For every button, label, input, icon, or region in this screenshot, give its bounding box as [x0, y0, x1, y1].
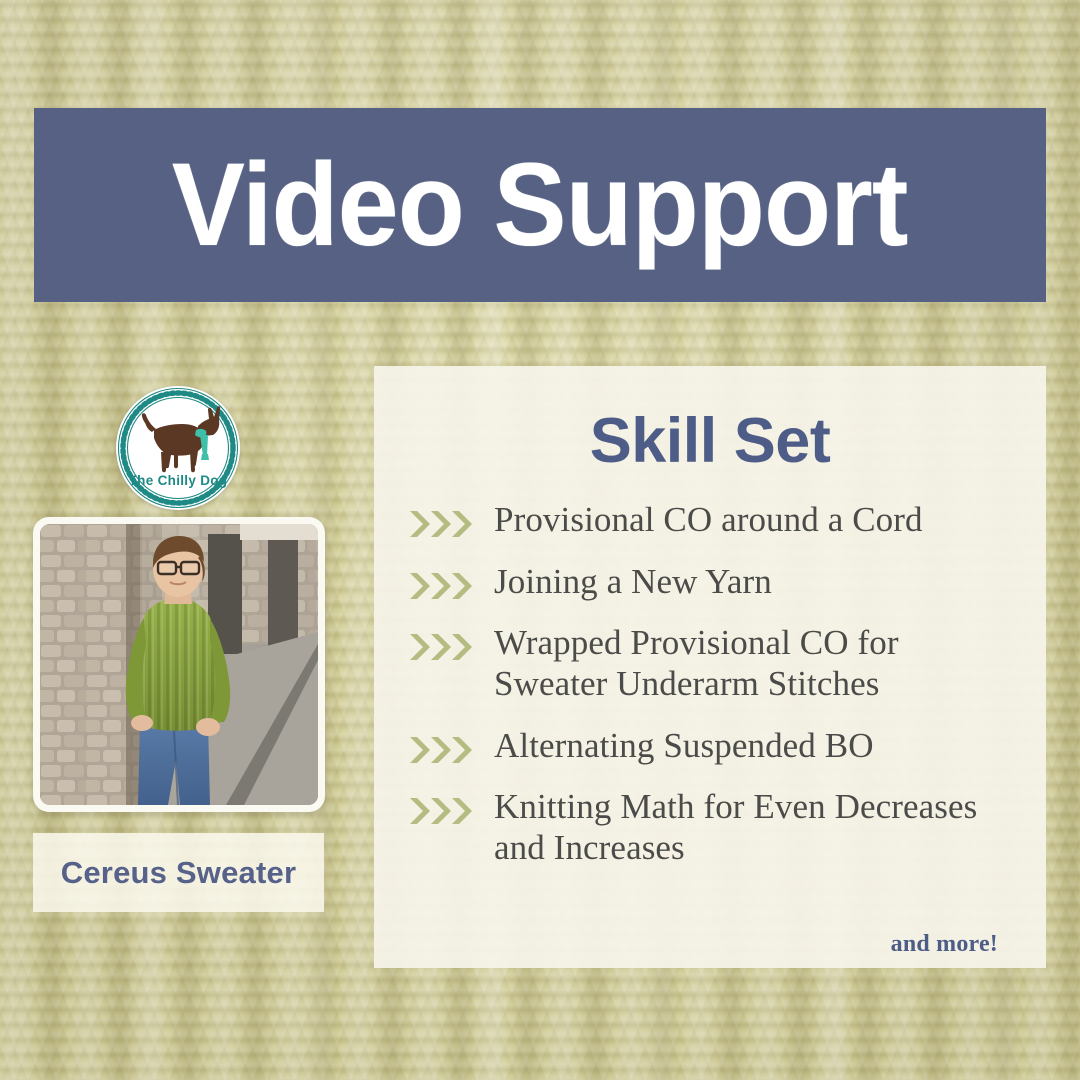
product-photo — [40, 524, 318, 805]
promo-graphic: Video Support — [0, 0, 1080, 1080]
header-banner: Video Support — [34, 108, 1046, 302]
skill-label: Alternating Suspended BO — [494, 726, 874, 767]
list-item: Knitting Math for Even Decreases and Inc… — [400, 787, 1020, 868]
product-caption: Cereus Sweater — [33, 833, 324, 912]
and-more-footnote: and more! — [891, 931, 998, 958]
triple-chevron-icon — [410, 623, 476, 662]
list-item: Wrapped Provisional CO for Sweater Under… — [400, 623, 1020, 704]
skill-label: Wrapped Provisional CO for Sweater Under… — [494, 623, 1020, 704]
list-item: Joining a New Yarn — [400, 562, 1020, 603]
skill-label: Joining a New Yarn — [494, 562, 772, 603]
product-caption-label: Cereus Sweater — [61, 855, 296, 891]
skill-list: Provisional CO around a Cord Joining a N… — [400, 500, 1020, 868]
list-item: Provisional CO around a Cord — [400, 500, 1020, 541]
list-item: Alternating Suspended BO — [400, 726, 1020, 767]
skill-set-panel: Skill Set Provisional CO around a Cord — [374, 366, 1046, 968]
skill-label: Knitting Math for Even Decreases and Inc… — [494, 787, 1020, 868]
triple-chevron-icon — [410, 787, 476, 826]
skill-set-title: Skill Set — [400, 408, 1020, 474]
skill-label: Provisional CO around a Cord — [494, 500, 923, 541]
page-title: Video Support — [172, 146, 908, 264]
product-photo-card[interactable] — [33, 517, 325, 812]
logo-text: The Chilly Dog — [129, 473, 228, 488]
triple-chevron-icon — [410, 562, 476, 601]
triple-chevron-icon — [410, 726, 476, 765]
triple-chevron-icon — [410, 500, 476, 539]
the-chilly-dog-logo[interactable]: The Chilly Dog — [116, 386, 240, 510]
